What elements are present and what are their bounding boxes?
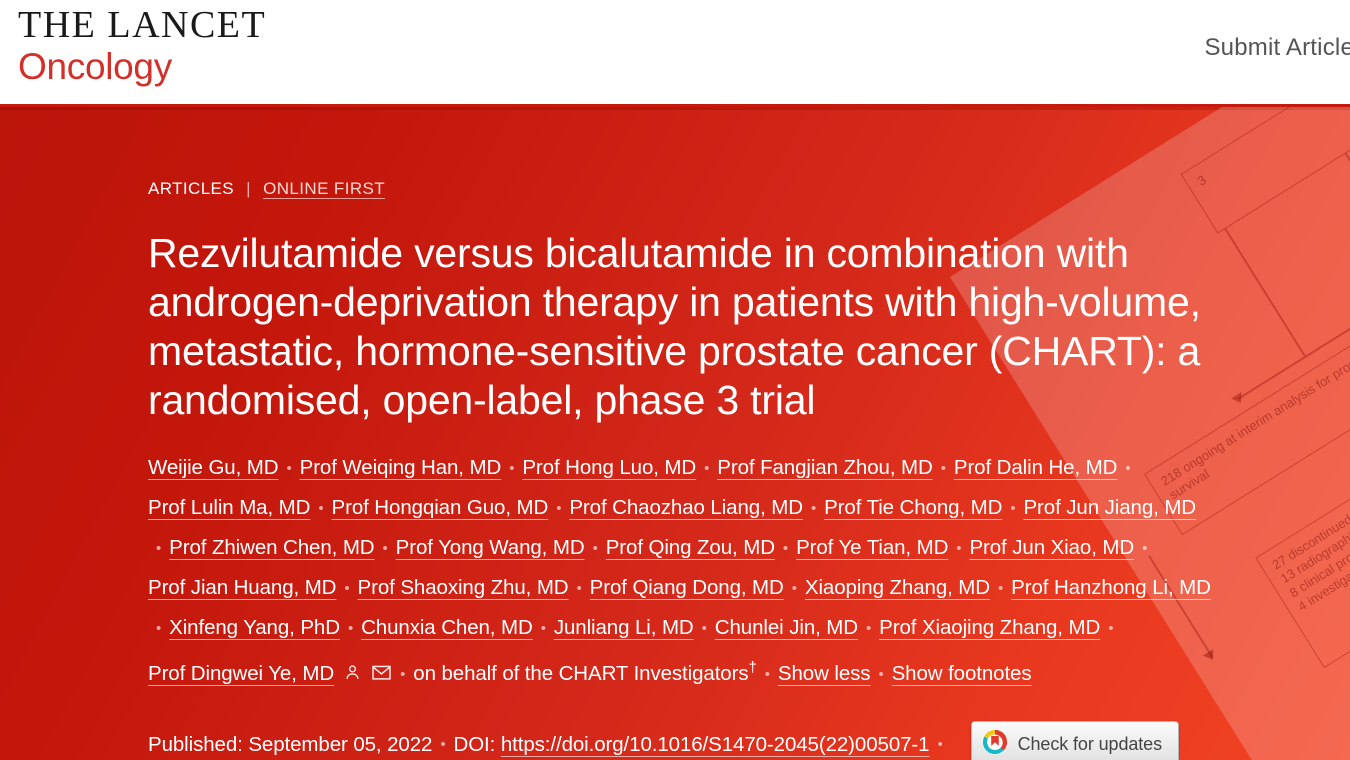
site-masthead: THE LANCET Oncology Submit Article bbox=[0, 0, 1350, 107]
author-bullet: • bbox=[400, 655, 405, 694]
hero-top-divider bbox=[0, 107, 1350, 110]
author-link[interactable]: Prof Weiqing Han, MD bbox=[300, 456, 502, 479]
group-authorship-marker[interactable]: † bbox=[749, 659, 757, 676]
crossmark-check-for-updates-badge[interactable]: Check for updates bbox=[971, 721, 1179, 760]
author-bullet: • bbox=[509, 449, 514, 488]
author-list: Weijie Gu, MD•Prof Weiqing Han, MD•Prof … bbox=[148, 448, 1213, 695]
author-bullet: • bbox=[318, 489, 323, 528]
author-bullet: • bbox=[541, 609, 546, 648]
kicker-online-first-link[interactable]: ONLINE FIRST bbox=[263, 179, 385, 198]
author-bullet: • bbox=[156, 609, 161, 648]
author-link[interactable]: Junliang Li, MD bbox=[554, 616, 694, 639]
logo-text-oncology: Oncology bbox=[18, 48, 266, 85]
author-link[interactable]: Prof Shaoxing Zhu, MD bbox=[358, 576, 569, 599]
author-link[interactable]: Chunxia Chen, MD bbox=[361, 616, 533, 639]
author-bullet: • bbox=[1010, 489, 1015, 528]
author-link[interactable]: Prof Hong Luo, MD bbox=[522, 456, 696, 479]
author-bullet: • bbox=[704, 449, 709, 488]
author-link[interactable]: Weijie Gu, MD bbox=[148, 456, 278, 479]
author-bullet: • bbox=[383, 529, 388, 568]
author-bullet: • bbox=[998, 569, 1003, 608]
author-link[interactable]: Chunlei Jin, MD bbox=[715, 616, 858, 639]
author-link[interactable]: Prof Lulin Ma, MD bbox=[148, 496, 310, 519]
author-bullet: • bbox=[1108, 609, 1113, 648]
author-affiliation-icon[interactable] bbox=[343, 656, 362, 695]
author-bullet: • bbox=[348, 609, 353, 648]
author-bullet: • bbox=[878, 655, 883, 694]
author-link[interactable]: Prof Hongqian Guo, MD bbox=[332, 496, 549, 519]
author-link[interactable]: Prof Tie Chong, MD bbox=[824, 496, 1002, 519]
author-link[interactable]: Prof Jian Huang, MD bbox=[148, 576, 336, 599]
author-link[interactable]: Prof Jun Jiang, MD bbox=[1023, 496, 1196, 519]
author-names-container: Weijie Gu, MD•Prof Weiqing Han, MD•Prof … bbox=[148, 456, 1211, 639]
author-bullet: • bbox=[941, 449, 946, 488]
publication-metadata: Published: September 05, 2022 • DOI: htt… bbox=[148, 721, 1268, 760]
author-link[interactable]: Prof Zhiwen Chen, MD bbox=[169, 536, 374, 559]
author-link[interactable]: Xiaoping Zhang, MD bbox=[805, 576, 990, 599]
author-link[interactable]: Prof Chaozhao Liang, MD bbox=[569, 496, 803, 519]
doi-link[interactable]: https://doi.org/10.1016/S1470-2045(22)00… bbox=[501, 733, 930, 757]
author-bullet: • bbox=[1125, 449, 1130, 488]
author-bullet: • bbox=[156, 529, 161, 568]
author-bullet: • bbox=[344, 569, 349, 608]
watermark-connector bbox=[1345, 153, 1350, 247]
article-title: Rezvilutamide versus bicalutamide in com… bbox=[148, 229, 1253, 425]
author-link[interactable]: Prof Jun Xiao, MD bbox=[969, 536, 1134, 559]
group-authorship-text: on behalf of the CHART Investigators bbox=[413, 662, 748, 685]
author-email-icon[interactable] bbox=[371, 656, 392, 695]
author-bullet: • bbox=[702, 609, 707, 648]
lancet-oncology-logo[interactable]: THE LANCET Oncology bbox=[18, 6, 266, 85]
published-label: Published: bbox=[148, 733, 243, 757]
doi-label: DOI: bbox=[453, 733, 495, 757]
show-footnotes-button[interactable]: Show footnotes bbox=[892, 662, 1032, 685]
author-link[interactable]: Prof Xiaojing Zhang, MD bbox=[879, 616, 1100, 639]
meta-bullet: • bbox=[440, 736, 445, 753]
watermark-box-discontinued: 27 discontinued 13 radiographic progress… bbox=[1255, 378, 1350, 668]
author-bullet: • bbox=[866, 609, 871, 648]
meta-bullet: • bbox=[937, 736, 942, 753]
show-less-button[interactable]: Show less bbox=[778, 662, 871, 685]
author-bullet: • bbox=[783, 529, 788, 568]
author-link[interactable]: Prof Yong Wang, MD bbox=[396, 536, 585, 559]
author-link[interactable]: Prof Fangjian Zhou, MD bbox=[717, 456, 932, 479]
published-date: September 05, 2022 bbox=[248, 733, 432, 757]
submit-article-link[interactable]: Submit Article bbox=[1204, 34, 1350, 62]
author-bullet: • bbox=[577, 569, 582, 608]
author-link[interactable]: Prof Qiang Dong, MD bbox=[590, 576, 784, 599]
author-bullet: • bbox=[556, 489, 561, 528]
author-bullet: • bbox=[286, 449, 291, 488]
article-hero-banner: 3 218 ongoing at interim analysis for pr… bbox=[0, 107, 1350, 760]
author-bullet: • bbox=[765, 655, 770, 694]
author-bullet: • bbox=[593, 529, 598, 568]
author-bullet: • bbox=[811, 489, 816, 528]
author-bullet: • bbox=[956, 529, 961, 568]
article-kicker: ARTICLES | ONLINE FIRST bbox=[148, 179, 1268, 199]
author-link[interactable]: Prof Hanzhong Li, MD bbox=[1011, 576, 1211, 599]
author-link[interactable]: Xinfeng Yang, PhD bbox=[169, 616, 340, 639]
author-link[interactable]: Prof Dalin He, MD bbox=[954, 456, 1117, 479]
kicker-separator: | bbox=[246, 179, 251, 198]
author-link[interactable]: Prof Ye Tian, MD bbox=[796, 536, 948, 559]
author-bullet: • bbox=[792, 569, 797, 608]
corresponding-author-link[interactable]: Prof Dingwei Ye, MD bbox=[148, 662, 334, 685]
article-header-content: ARTICLES | ONLINE FIRST Rezvilutamide ve… bbox=[148, 179, 1268, 760]
kicker-article-type: ARTICLES bbox=[148, 179, 234, 198]
crossmark-logo-icon bbox=[981, 728, 1009, 760]
author-link[interactable]: Prof Qing Zou, MD bbox=[606, 536, 775, 559]
crossmark-label: Check for updates bbox=[1018, 734, 1162, 755]
logo-text-lancet: THE LANCET bbox=[18, 6, 266, 44]
author-bullet: • bbox=[1142, 529, 1147, 568]
